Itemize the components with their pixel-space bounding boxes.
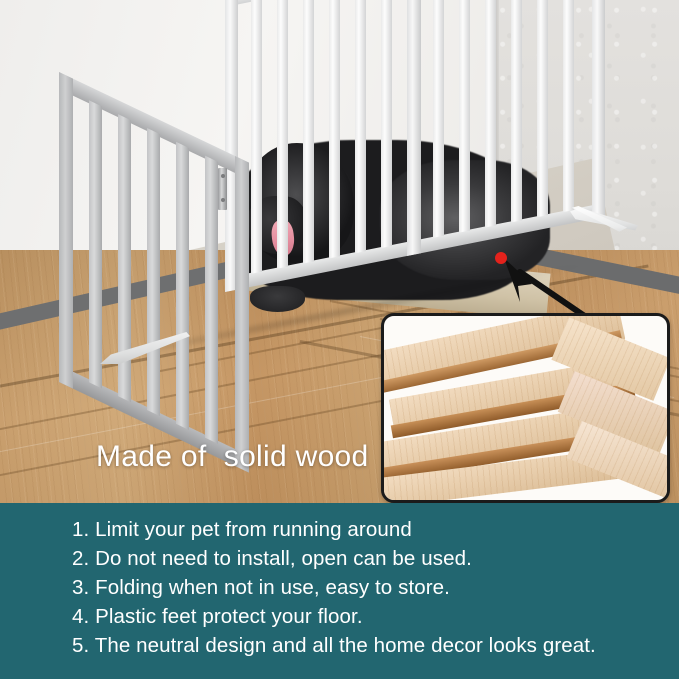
feature-item-1: 1. Limit your pet from running around [72, 515, 672, 544]
gate-slat [433, 0, 444, 238]
feature-item-5: 5. The neutral design and all the home d… [72, 631, 672, 660]
gate-frame-right [235, 156, 249, 473]
product-image-root: Made of solid wood [0, 0, 679, 679]
features-panel: 1. Limit your pet from running around 2.… [0, 503, 679, 679]
gate-hinge [218, 168, 227, 210]
gate-frame-right [592, 0, 605, 219]
gate-slat [563, 0, 574, 212]
gate-slat [329, 0, 340, 258]
gate-slat [89, 100, 102, 388]
gate-slat [459, 0, 470, 233]
gate-slat [511, 0, 522, 222]
gate-frame-left [59, 72, 73, 389]
gate-slat [277, 0, 288, 269]
gate-frame-middle [407, 0, 421, 256]
feature-item-3: 3. Folding when not in use, easy to stor… [72, 573, 672, 602]
gate-slat [251, 0, 262, 274]
gate-slat [537, 0, 548, 217]
feature-item-4: 4. Plastic feet protect your floor. [72, 602, 672, 631]
gate-slat [355, 0, 366, 253]
inset-wood-photo [381, 313, 670, 503]
callout-red-dot [495, 252, 507, 264]
features-list: 1. Limit your pet from running around 2.… [72, 515, 672, 660]
product-photo: Made of solid wood [0, 0, 679, 503]
gate-slat [147, 128, 160, 416]
gate-slat [485, 0, 496, 228]
gate-slat [205, 156, 218, 444]
dog-paw [250, 286, 305, 312]
feature-item-2: 2. Do not need to install, open can be u… [72, 544, 672, 573]
gate-slat [303, 0, 314, 264]
gate-slat [381, 0, 392, 248]
made-of-solid-wood-caption: Made of solid wood [96, 440, 369, 474]
gate-slat [176, 142, 189, 430]
